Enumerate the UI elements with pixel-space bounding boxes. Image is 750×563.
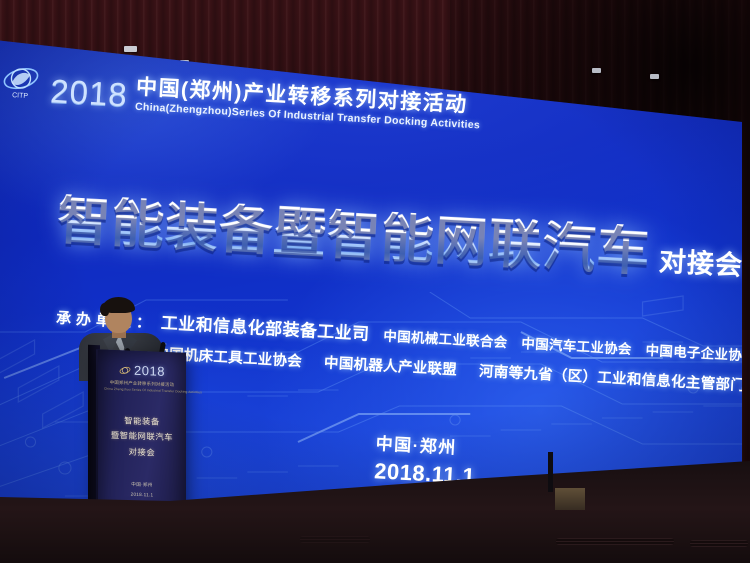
main-title-primary: 智能装备暨智能网联汽车 [56, 194, 652, 279]
organizer-item: 中国机器人产业联盟 [324, 351, 458, 379]
stage-prop-stand [548, 452, 553, 492]
main-title-secondary: 对接会 [658, 248, 743, 280]
organizer-item: 中国汽车工业协会 [521, 332, 632, 358]
organizer-item: 中国机械工业联合会 [383, 325, 508, 352]
header-year: 2018 [49, 74, 128, 111]
podium-title: 智能装备 暨智能网联汽车 对接会 [104, 413, 180, 462]
stage-vent [690, 540, 748, 547]
podium: 2018 中国郑州产业转移系列对接活动 China Zhengzhou Seri… [96, 349, 186, 524]
organizer-item: 河南等九省（区）工业和信息化主管部门 [479, 360, 746, 395]
podium-footer: 中国·郑州 2018.11.1 [104, 479, 180, 501]
main-title: 智能装备暨智能网联汽车 对接会 [56, 194, 745, 284]
podium-year: 2018 [134, 363, 165, 379]
podium-footer-line: 2018.11.1 [104, 488, 180, 501]
event-city: 中国·郑州 [375, 429, 477, 459]
podium-title-line: 暨智能网联汽车 [104, 428, 180, 446]
podium-logo-row: 2018 [104, 362, 180, 380]
speaker-hair-side [100, 303, 109, 316]
conference-stage-photo: CITP 2018 中国(郑州)产业转移系列对接活动 China(Zhengzh… [0, 0, 750, 563]
organizer-item: 中国电子企业协会 [645, 339, 750, 365]
organizer-primary: 工业和信息化部装备工业司 [160, 308, 370, 344]
logo-text: CITP [12, 92, 29, 100]
ceiling-light-fixture [592, 68, 601, 73]
stage-vent [556, 538, 674, 545]
ceiling-light-fixture [650, 74, 659, 79]
stage-vent [300, 536, 370, 543]
stage-prop-box [555, 488, 585, 510]
orbital-globe-logo-icon [119, 364, 131, 376]
podium-title-line: 对接会 [104, 443, 180, 461]
stage-vent-group [0, 533, 750, 559]
podium-sign: 2018 中国郑州产业转移系列对接活动 China Zhengzhou Seri… [98, 349, 186, 524]
orbital-globe-logo-icon: CITP [0, 58, 44, 104]
ceiling-light-fixture [124, 46, 137, 52]
